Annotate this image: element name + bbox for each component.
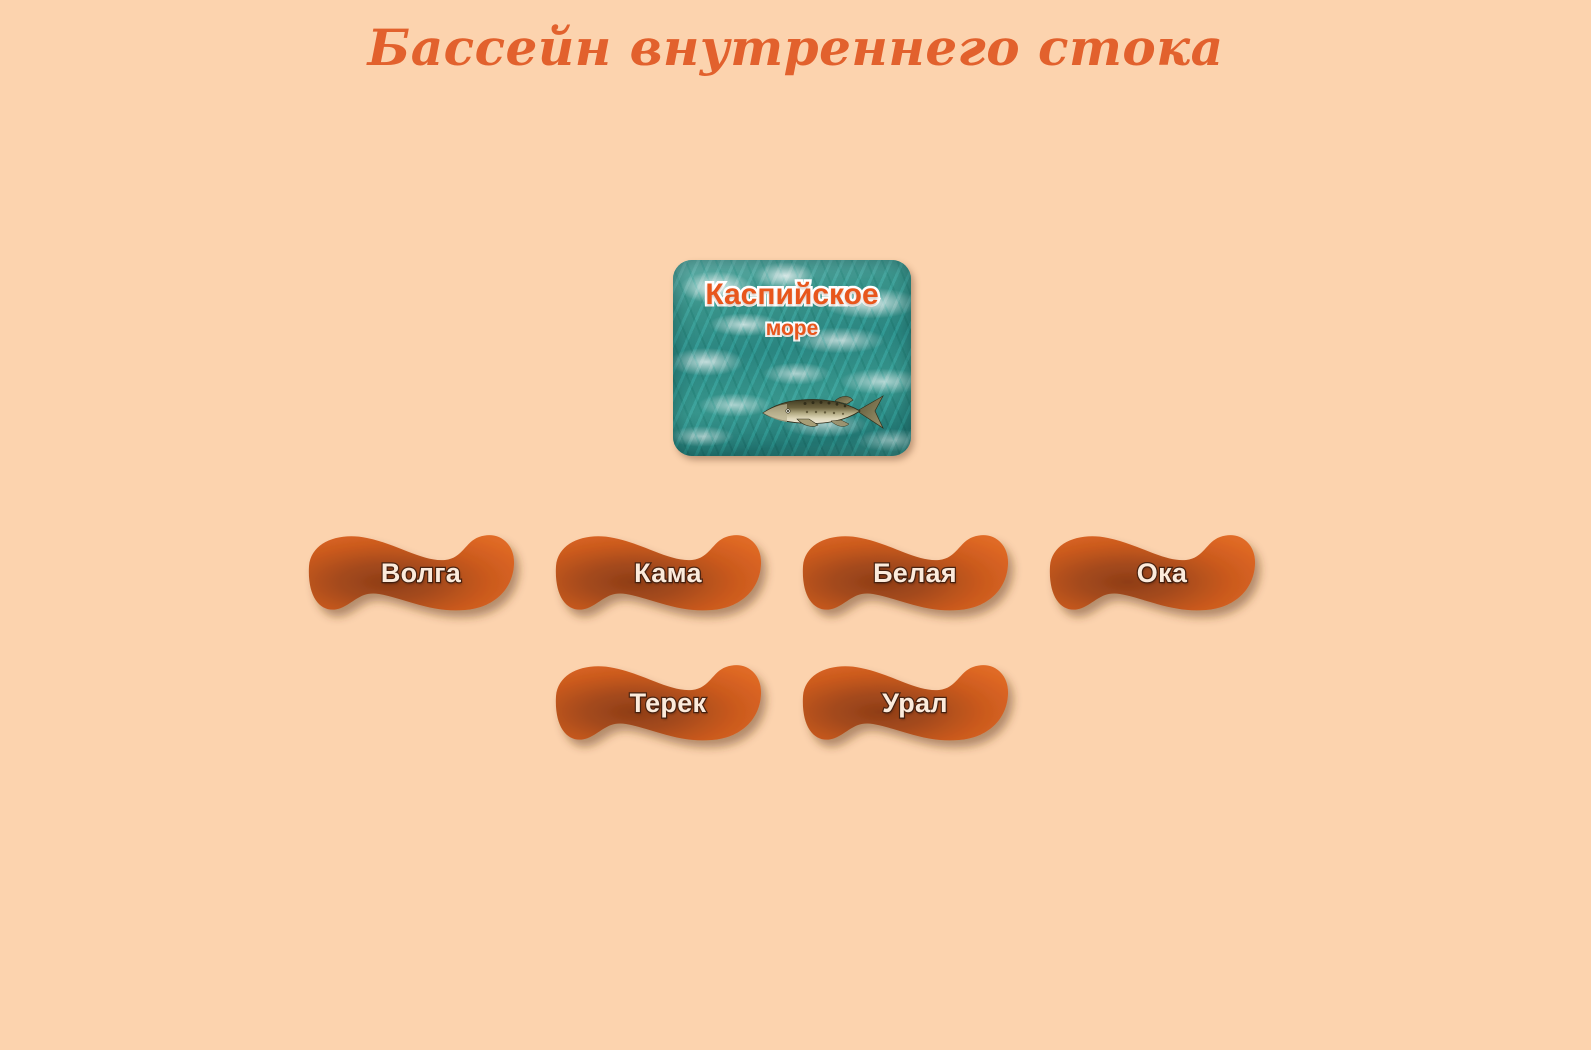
river-card-kama[interactable]: Кама [552,528,766,618]
page-title: Бассейн внутреннего стока [0,18,1591,77]
river-card-belaya[interactable]: Белая [799,528,1013,618]
river-blob-shape [552,658,766,748]
river-card-ural[interactable]: Урал [799,658,1013,748]
river-card-volga[interactable]: Волга [305,528,519,618]
rivers-row-1: Волга Кама Белая Ока [305,528,1260,618]
sea-card-labels: Каспийское море [673,280,911,341]
sturgeon-fish-icon [761,388,885,434]
river-blob-shape [799,528,1013,618]
river-blob-shape [552,528,766,618]
river-card-oka[interactable]: Ока [1046,528,1260,618]
river-blob-shape [799,658,1013,748]
river-blob-shape [305,528,519,618]
river-card-terek[interactable]: Терек [552,658,766,748]
page-root: { "page": { "title": "Бассейн внутреннег… [0,0,1591,1050]
rivers-row-2: Терек Урал [552,658,1013,748]
sea-subtitle: море [673,317,911,341]
sea-card-caspian[interactable]: Каспийское море [673,260,911,456]
river-blob-shape [1046,528,1260,618]
sea-name: Каспийское [705,278,878,311]
